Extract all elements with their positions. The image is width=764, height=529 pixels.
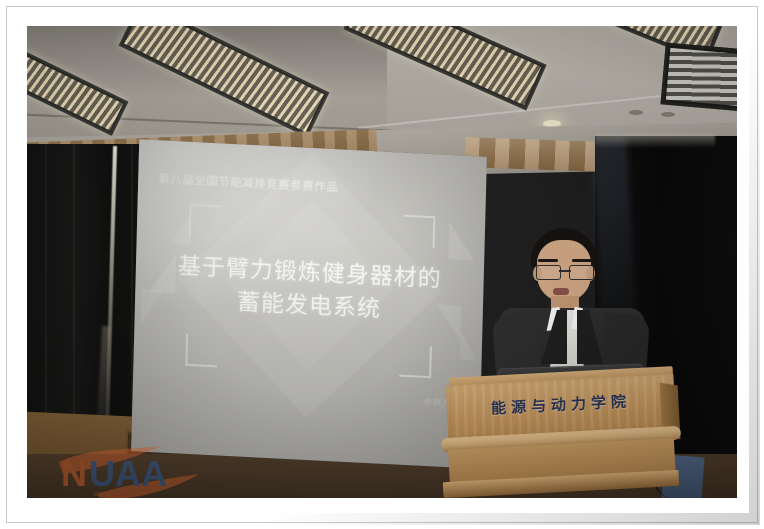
lapel-left <box>541 310 567 364</box>
wall-vent-grille <box>660 42 737 111</box>
glasses-icon <box>536 265 594 278</box>
projection-screen-frame: 第八届全国节能减排竞赛参赛作品 基于臂力锻炼健身器材的 蓄能发电系统 参赛人 <box>131 139 487 469</box>
vent-slats <box>666 48 737 106</box>
projection-screen: 第八届全国节能减排竞赛参赛作品 基于臂力锻炼健身器材的 蓄能发电系统 参赛人 <box>131 139 487 469</box>
curtain-top-highlight <box>595 134 715 148</box>
screen-vignette <box>131 139 487 469</box>
eyebrow-right <box>572 259 592 262</box>
eyebrow-left <box>538 259 558 262</box>
lectern-podium: 能源与动力学院 <box>439 378 681 498</box>
ceiling-fitting <box>629 110 643 115</box>
glasses-lens-left <box>536 265 561 280</box>
presentation-photo: 第八届全国节能减排竞赛参赛作品 基于臂力锻炼健身器材的 蓄能发电系统 参赛人 <box>27 26 737 498</box>
photo-frame: 第八届全国节能减排竞赛参赛作品 基于臂力锻炼健身器材的 蓄能发电系统 参赛人 <box>0 0 764 529</box>
ceiling-fitting <box>661 112 675 117</box>
mouth <box>553 288 569 295</box>
lapel-right <box>577 310 603 364</box>
glasses-lens-right <box>569 265 594 280</box>
